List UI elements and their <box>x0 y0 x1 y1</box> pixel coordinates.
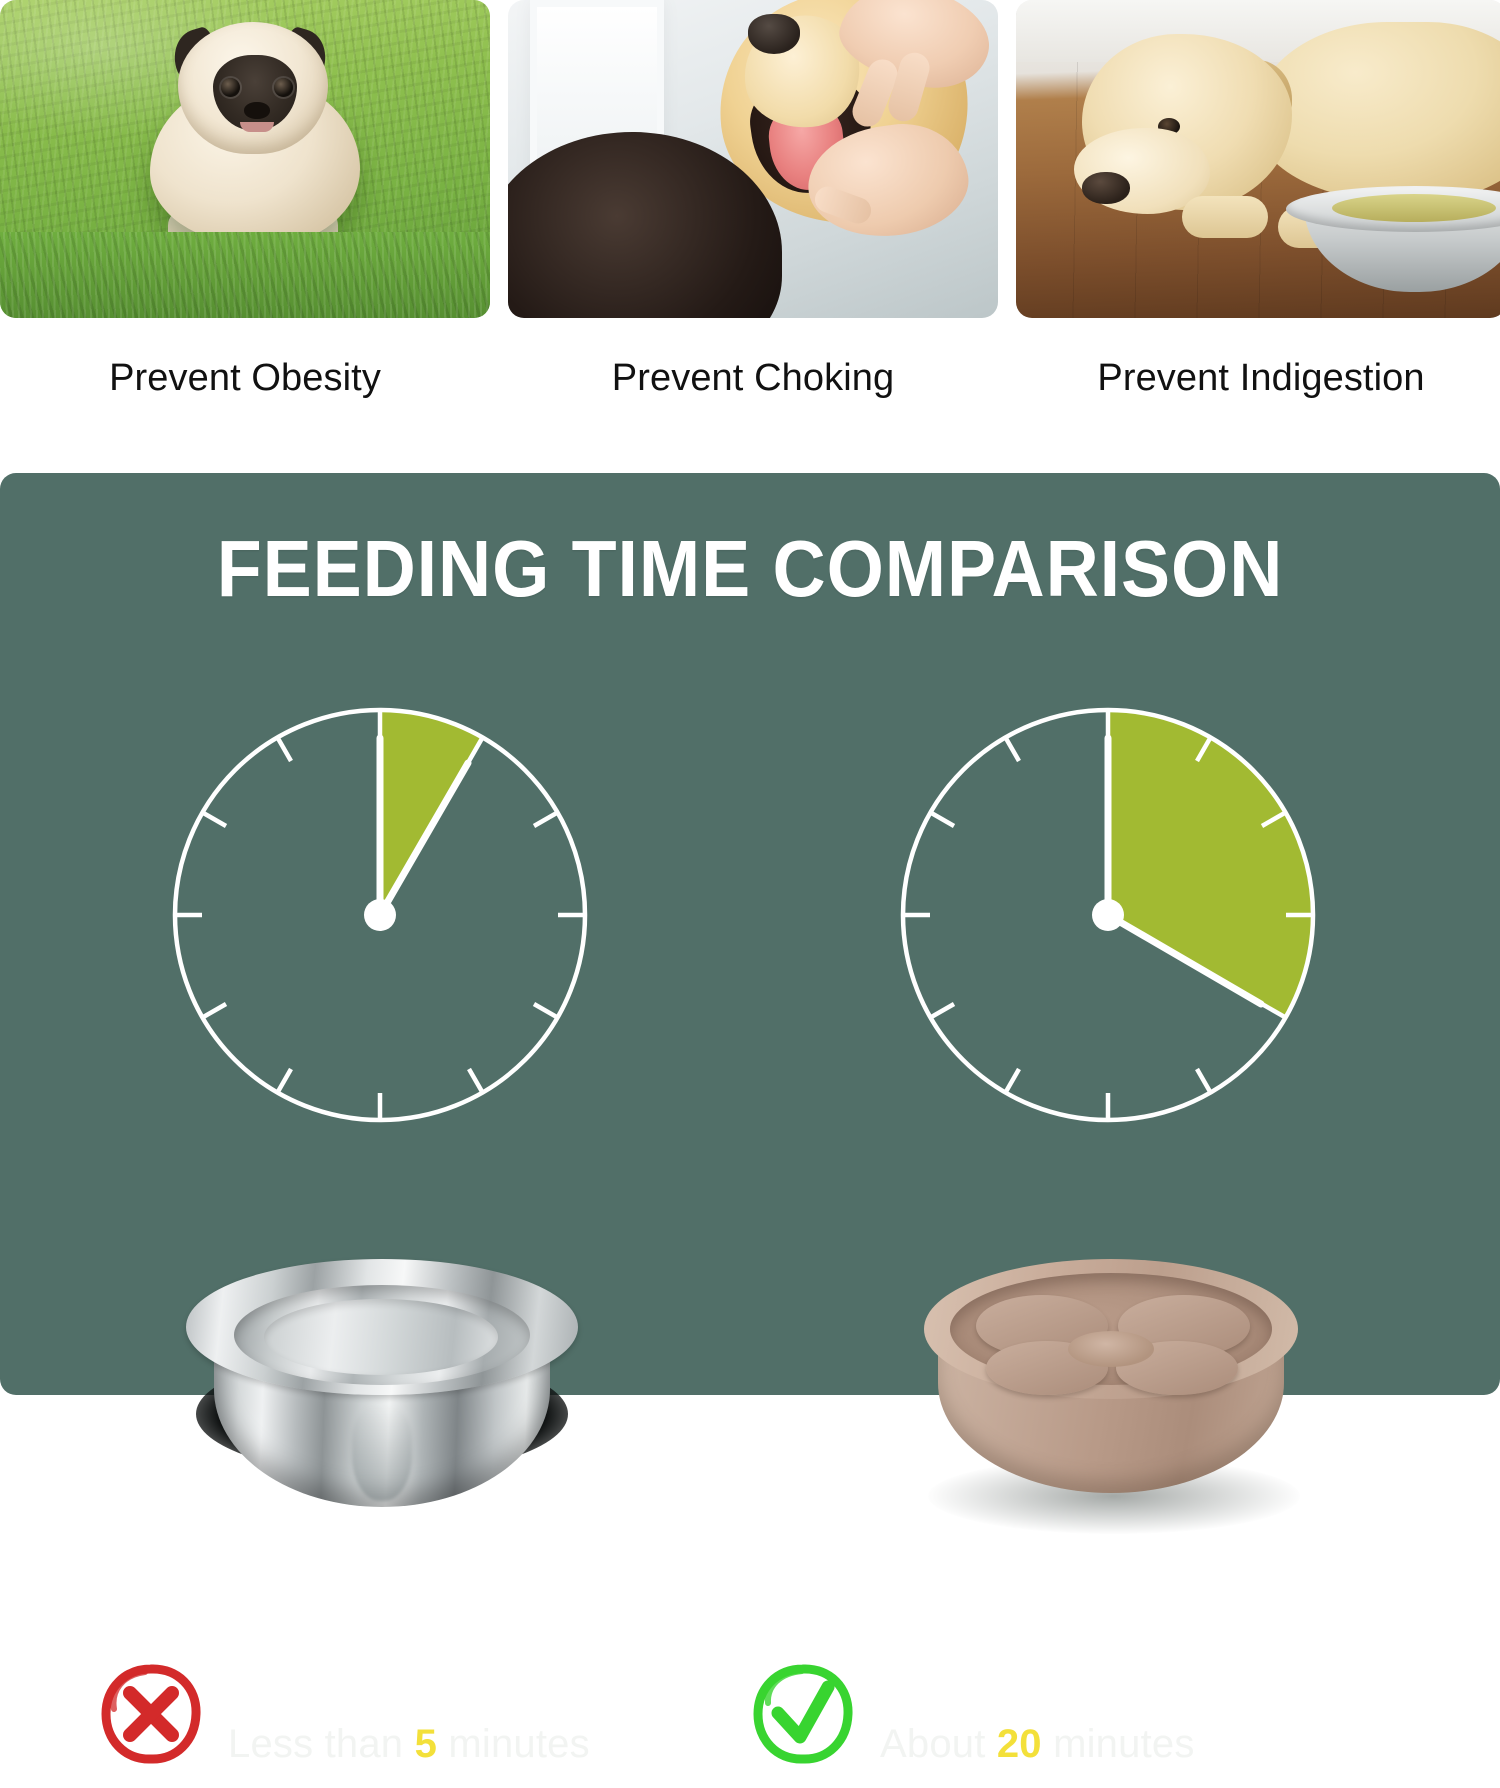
benefit-caption-choking: Prevent Choking <box>508 352 998 414</box>
legend-sub-slow-feeding-bowl: About 20 minutes <box>880 1718 1339 1770</box>
legend-minutes-slow: 20 <box>997 1722 1042 1766</box>
benefit-captions: Prevent Obesity Prevent Choking Prevent … <box>0 352 1500 414</box>
red-x-circle-icon <box>96 1659 206 1769</box>
hand-feeding-golden-retriever-image <box>508 0 998 318</box>
legend-sub-normal-bowl: Less than 5 minutes <box>228 1718 590 1770</box>
legend-sub-prefix-slow: About <box>880 1722 997 1766</box>
legend-sub-suffix-normal: minutes <box>437 1722 590 1766</box>
labrador-lying-beside-bowl-image <box>1016 0 1500 318</box>
clock-hub-slow <box>1092 899 1124 931</box>
legend-sub-suffix-slow: minutes <box>1042 1722 1195 1766</box>
legend-item-normal-bowl: Normal Bowl Less than 5 minutes <box>96 1658 590 1770</box>
benefit-caption-indigestion: Prevent Indigestion <box>1016 352 1500 414</box>
benefit-photo-strip <box>0 0 1500 320</box>
legend-title-slow-feeding-bowl: Slow Feeding Bowl <box>880 1658 1339 1718</box>
overweight-pug-on-grass-image <box>0 0 490 318</box>
benefit-photo-indigestion <box>1016 0 1500 318</box>
benefit-caption-obesity: Prevent Obesity <box>0 352 490 414</box>
benefit-photo-obesity <box>0 0 490 318</box>
legend-item-slow-feeding-bowl: Slow Feeding Bowl About 20 minutes <box>748 1658 1339 1770</box>
clock-face-slow-feeding-bowl <box>0 473 1500 1395</box>
benefit-photo-choking <box>508 0 998 318</box>
legend-title-normal-bowl: Normal Bowl <box>228 1658 590 1718</box>
comparison-legend: Normal Bowl Less than 5 minutes Slow Fee… <box>0 1658 1500 1788</box>
legend-minutes-normal: 5 <box>415 1722 437 1766</box>
feeding-time-comparison-panel: FEEDING TIME COMPARISON <box>0 473 1500 1395</box>
green-check-circle-icon <box>748 1659 858 1769</box>
legend-sub-prefix-normal: Less than <box>228 1722 415 1766</box>
